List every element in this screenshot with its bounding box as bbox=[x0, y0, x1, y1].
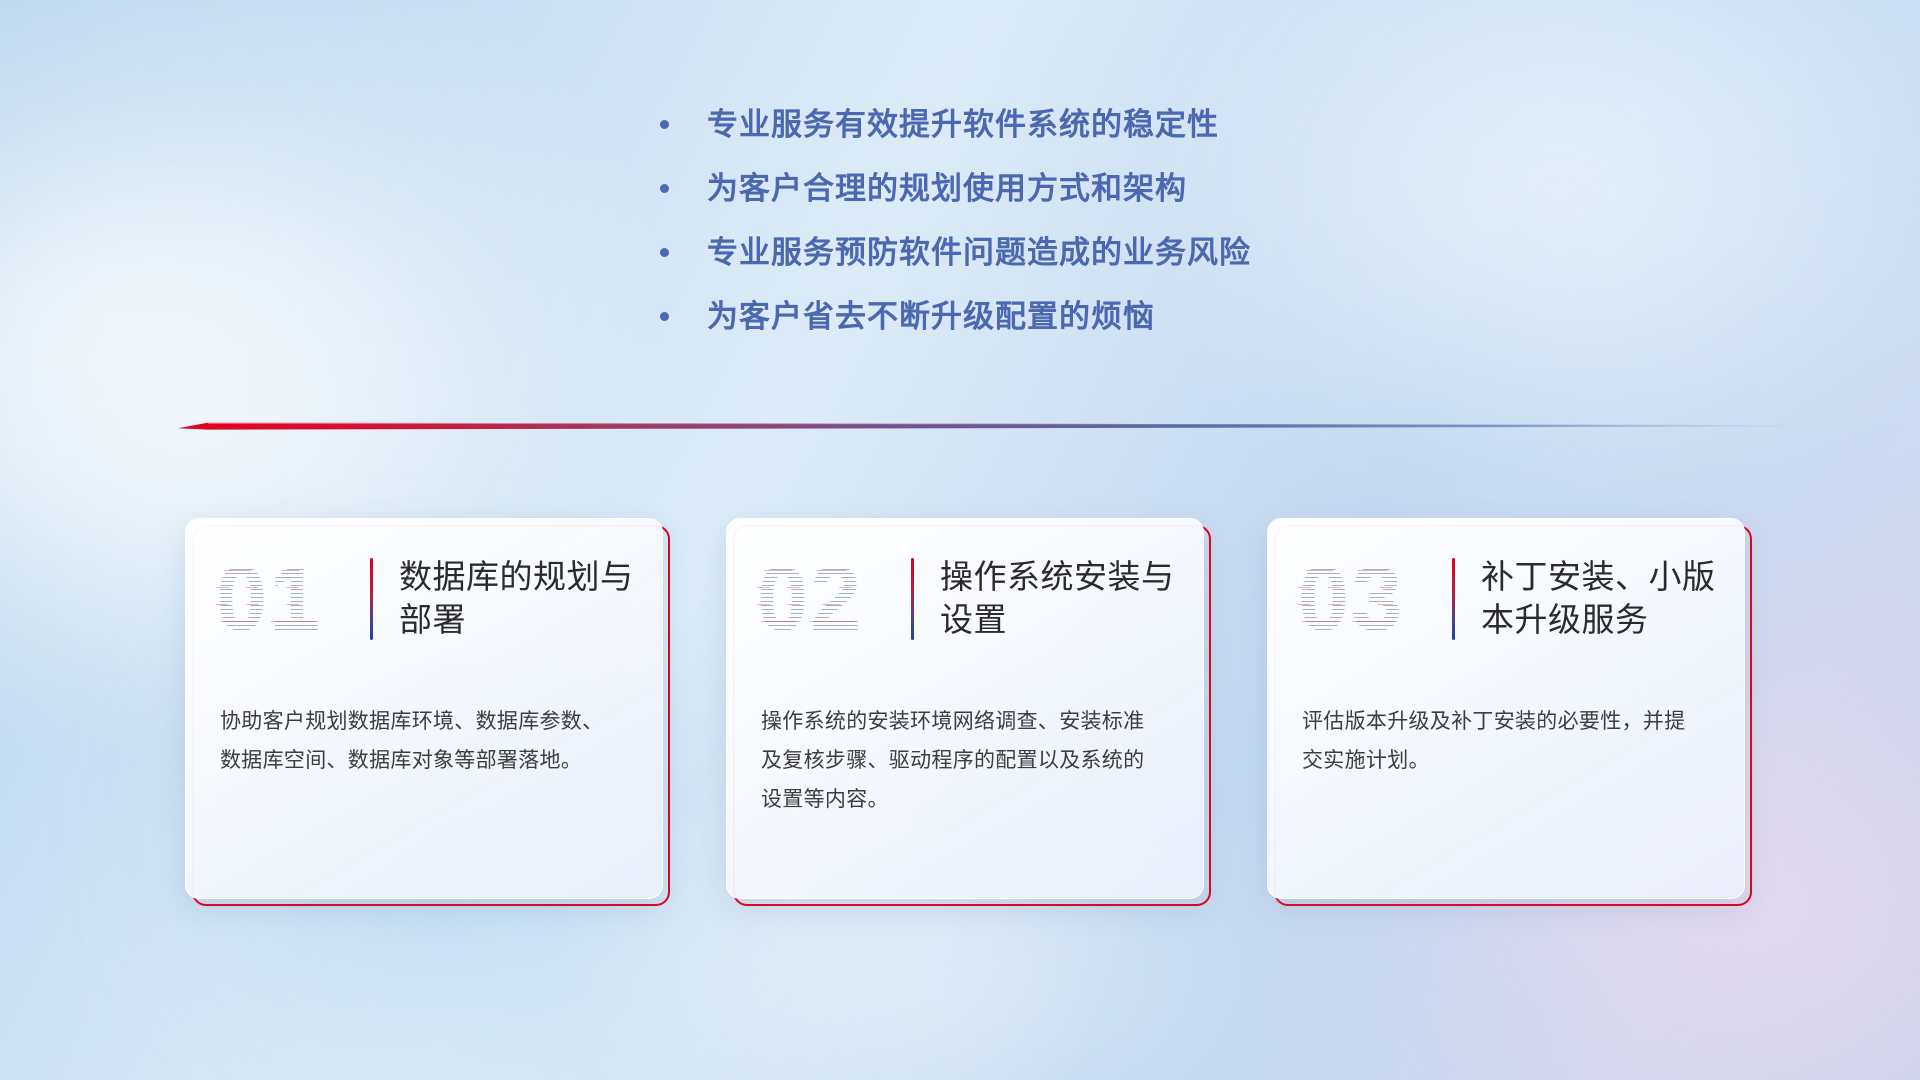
card-surface: 01 数据库的规划与部署 协助客户规划数据库环境、数据库参数、数据库空间、数据库… bbox=[185, 518, 663, 899]
card-number: 02 bbox=[757, 553, 907, 645]
service-card[interactable]: 02 操作系统安装与设置 操作系统的安装环境网络调查、安装标准及复核步骤、驱动程… bbox=[726, 518, 1204, 899]
card-number: 03 bbox=[1298, 553, 1448, 645]
bullet-text: 为客户合理的规划使用方式和架构 bbox=[707, 172, 1187, 206]
card-header: 02 操作系统安装与设置 bbox=[727, 519, 1203, 645]
list-item: 为客户省去不断升级配置的烦恼 bbox=[660, 300, 1660, 334]
card-body-text: 操作系统的安装环境网络调查、安装标准及复核步骤、驱动程序的配置以及系统的设置等内… bbox=[727, 645, 1203, 820]
card-body-text: 评估版本升级及补丁安装的必要性，并提交实施计划。 bbox=[1268, 645, 1744, 781]
card-title: 数据库的规划与部署 bbox=[399, 556, 662, 642]
slide-stage: 专业服务有效提升软件系统的稳定性 为客户合理的规划使用方式和架构 专业服务预防软… bbox=[0, 0, 1920, 1080]
card-surface: 02 操作系统安装与设置 操作系统的安装环境网络调查、安装标准及复核步骤、驱动程… bbox=[726, 518, 1204, 899]
service-card-grid: 01 数据库的规划与部署 协助客户规划数据库环境、数据库参数、数据库空间、数据库… bbox=[185, 518, 1745, 899]
bullet-dot-icon bbox=[660, 120, 669, 129]
bullet-text: 为客户省去不断升级配置的烦恼 bbox=[707, 300, 1155, 334]
bullet-dot-icon bbox=[660, 312, 669, 321]
benefits-bullet-list: 专业服务有效提升软件系统的稳定性 为客户合理的规划使用方式和架构 专业服务预防软… bbox=[660, 108, 1660, 364]
list-item: 专业服务预防软件问题造成的业务风险 bbox=[660, 236, 1660, 270]
bullet-dot-icon bbox=[660, 248, 669, 257]
bullet-dot-icon bbox=[660, 184, 669, 193]
service-card[interactable]: 01 数据库的规划与部署 协助客户规划数据库环境、数据库参数、数据库空间、数据库… bbox=[185, 518, 663, 899]
section-divider bbox=[178, 418, 1818, 434]
card-divider-rule bbox=[1452, 558, 1455, 640]
card-header: 01 数据库的规划与部署 bbox=[186, 519, 662, 645]
card-title: 操作系统安装与设置 bbox=[940, 556, 1203, 642]
card-body-text: 协助客户规划数据库环境、数据库参数、数据库空间、数据库对象等部署落地。 bbox=[186, 645, 662, 781]
card-header: 03 补丁安装、小版本升级服务 bbox=[1268, 519, 1744, 645]
card-divider-rule bbox=[370, 558, 373, 640]
card-surface: 03 补丁安装、小版本升级服务 评估版本升级及补丁安装的必要性，并提交实施计划。 bbox=[1267, 518, 1745, 899]
list-item: 专业服务有效提升软件系统的稳定性 bbox=[660, 108, 1660, 142]
list-item: 为客户合理的规划使用方式和架构 bbox=[660, 172, 1660, 206]
card-divider-rule bbox=[911, 558, 914, 640]
service-card[interactable]: 03 补丁安装、小版本升级服务 评估版本升级及补丁安装的必要性，并提交实施计划。 bbox=[1267, 518, 1745, 899]
card-number: 01 bbox=[216, 553, 366, 645]
bullet-text: 专业服务有效提升软件系统的稳定性 bbox=[707, 108, 1219, 142]
card-title: 补丁安装、小版本升级服务 bbox=[1481, 556, 1744, 642]
bullet-text: 专业服务预防软件问题造成的业务风险 bbox=[707, 236, 1251, 270]
